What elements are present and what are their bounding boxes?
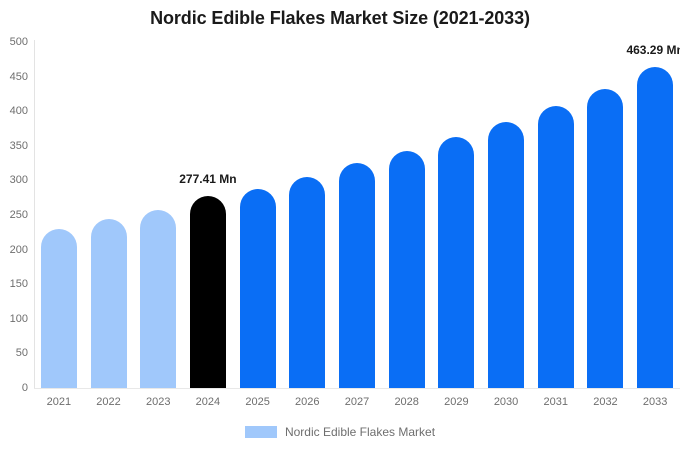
bar-2024[interactable] (190, 196, 226, 388)
y-axis-tick-label: 350 (0, 140, 28, 152)
bar-2028[interactable] (389, 151, 425, 388)
x-axis-tick-label-2033: 2033 (630, 396, 680, 408)
x-axis-tick-label-2026: 2026 (282, 396, 332, 408)
bar-2025[interactable] (240, 189, 276, 388)
bar-value-label-2024: 277.41 Mn (168, 172, 248, 186)
y-axis-tick-label: 0 (0, 382, 28, 394)
x-axis-tick-label-2023: 2023 (133, 396, 183, 408)
bar-group[interactable] (140, 42, 176, 388)
x-axis-tick-label-2021: 2021 (34, 396, 84, 408)
y-axis-tick-label: 400 (0, 105, 28, 117)
bar-2022[interactable] (91, 219, 127, 388)
x-axis-tick-label-2024: 2024 (183, 396, 233, 408)
y-axis-tick-label: 250 (0, 209, 28, 221)
x-axis-tick-label-2022: 2022 (84, 396, 134, 408)
bar-2032[interactable] (587, 89, 623, 388)
x-axis-tick-label-2029: 2029 (432, 396, 482, 408)
bar-group[interactable] (637, 42, 673, 388)
y-axis-tick-label: 450 (0, 71, 28, 83)
bar-group[interactable] (339, 42, 375, 388)
bar-group[interactable] (538, 42, 574, 388)
bar-group[interactable] (190, 42, 226, 388)
x-axis-tick-label-2028: 2028 (382, 396, 432, 408)
bar-group[interactable] (240, 42, 276, 388)
bar-group[interactable] (488, 42, 524, 388)
y-axis-tick-label: 150 (0, 278, 28, 290)
y-axis: 050100150200250300350400450500 (0, 0, 30, 450)
bar-2026[interactable] (289, 177, 325, 388)
bar-2021[interactable] (41, 229, 77, 388)
x-axis-tick-label-2032: 2032 (581, 396, 631, 408)
x-axis-tick-label-2030: 2030 (481, 396, 531, 408)
bar-2031[interactable] (538, 106, 574, 388)
y-axis-tick-label: 200 (0, 244, 28, 256)
legend-label: Nordic Edible Flakes Market (285, 425, 435, 439)
x-axis-tick-label-2027: 2027 (332, 396, 382, 408)
bar-chart: Nordic Edible Flakes Market Size (2021-2… (0, 0, 680, 450)
bar-2029[interactable] (438, 137, 474, 388)
bar-2027[interactable] (339, 163, 375, 388)
bar-2030[interactable] (488, 122, 524, 388)
bar-group[interactable] (289, 42, 325, 388)
chart-title: Nordic Edible Flakes Market Size (2021-2… (0, 8, 680, 29)
bar-2033[interactable] (637, 67, 673, 388)
bar-group[interactable] (438, 42, 474, 388)
bar-group[interactable] (91, 42, 127, 388)
bar-group[interactable] (389, 42, 425, 388)
y-axis-tick-label: 100 (0, 313, 28, 325)
bar-group[interactable] (587, 42, 623, 388)
x-axis-tick-label-2025: 2025 (233, 396, 283, 408)
plot-area (34, 42, 680, 388)
bar-2023[interactable] (140, 210, 176, 388)
y-axis-tick-label: 50 (0, 347, 28, 359)
y-axis-tick-label: 300 (0, 174, 28, 186)
y-axis-tick-label: 500 (0, 36, 28, 48)
legend-swatch-nordic-edible-flakes-market (245, 426, 277, 438)
x-axis-tick-label-2031: 2031 (531, 396, 581, 408)
x-axis-line (34, 388, 680, 389)
bar-group[interactable] (41, 42, 77, 388)
chart-legend: Nordic Edible Flakes Market (0, 425, 680, 439)
bar-value-label-2033: 463.29 Mn (615, 43, 680, 57)
